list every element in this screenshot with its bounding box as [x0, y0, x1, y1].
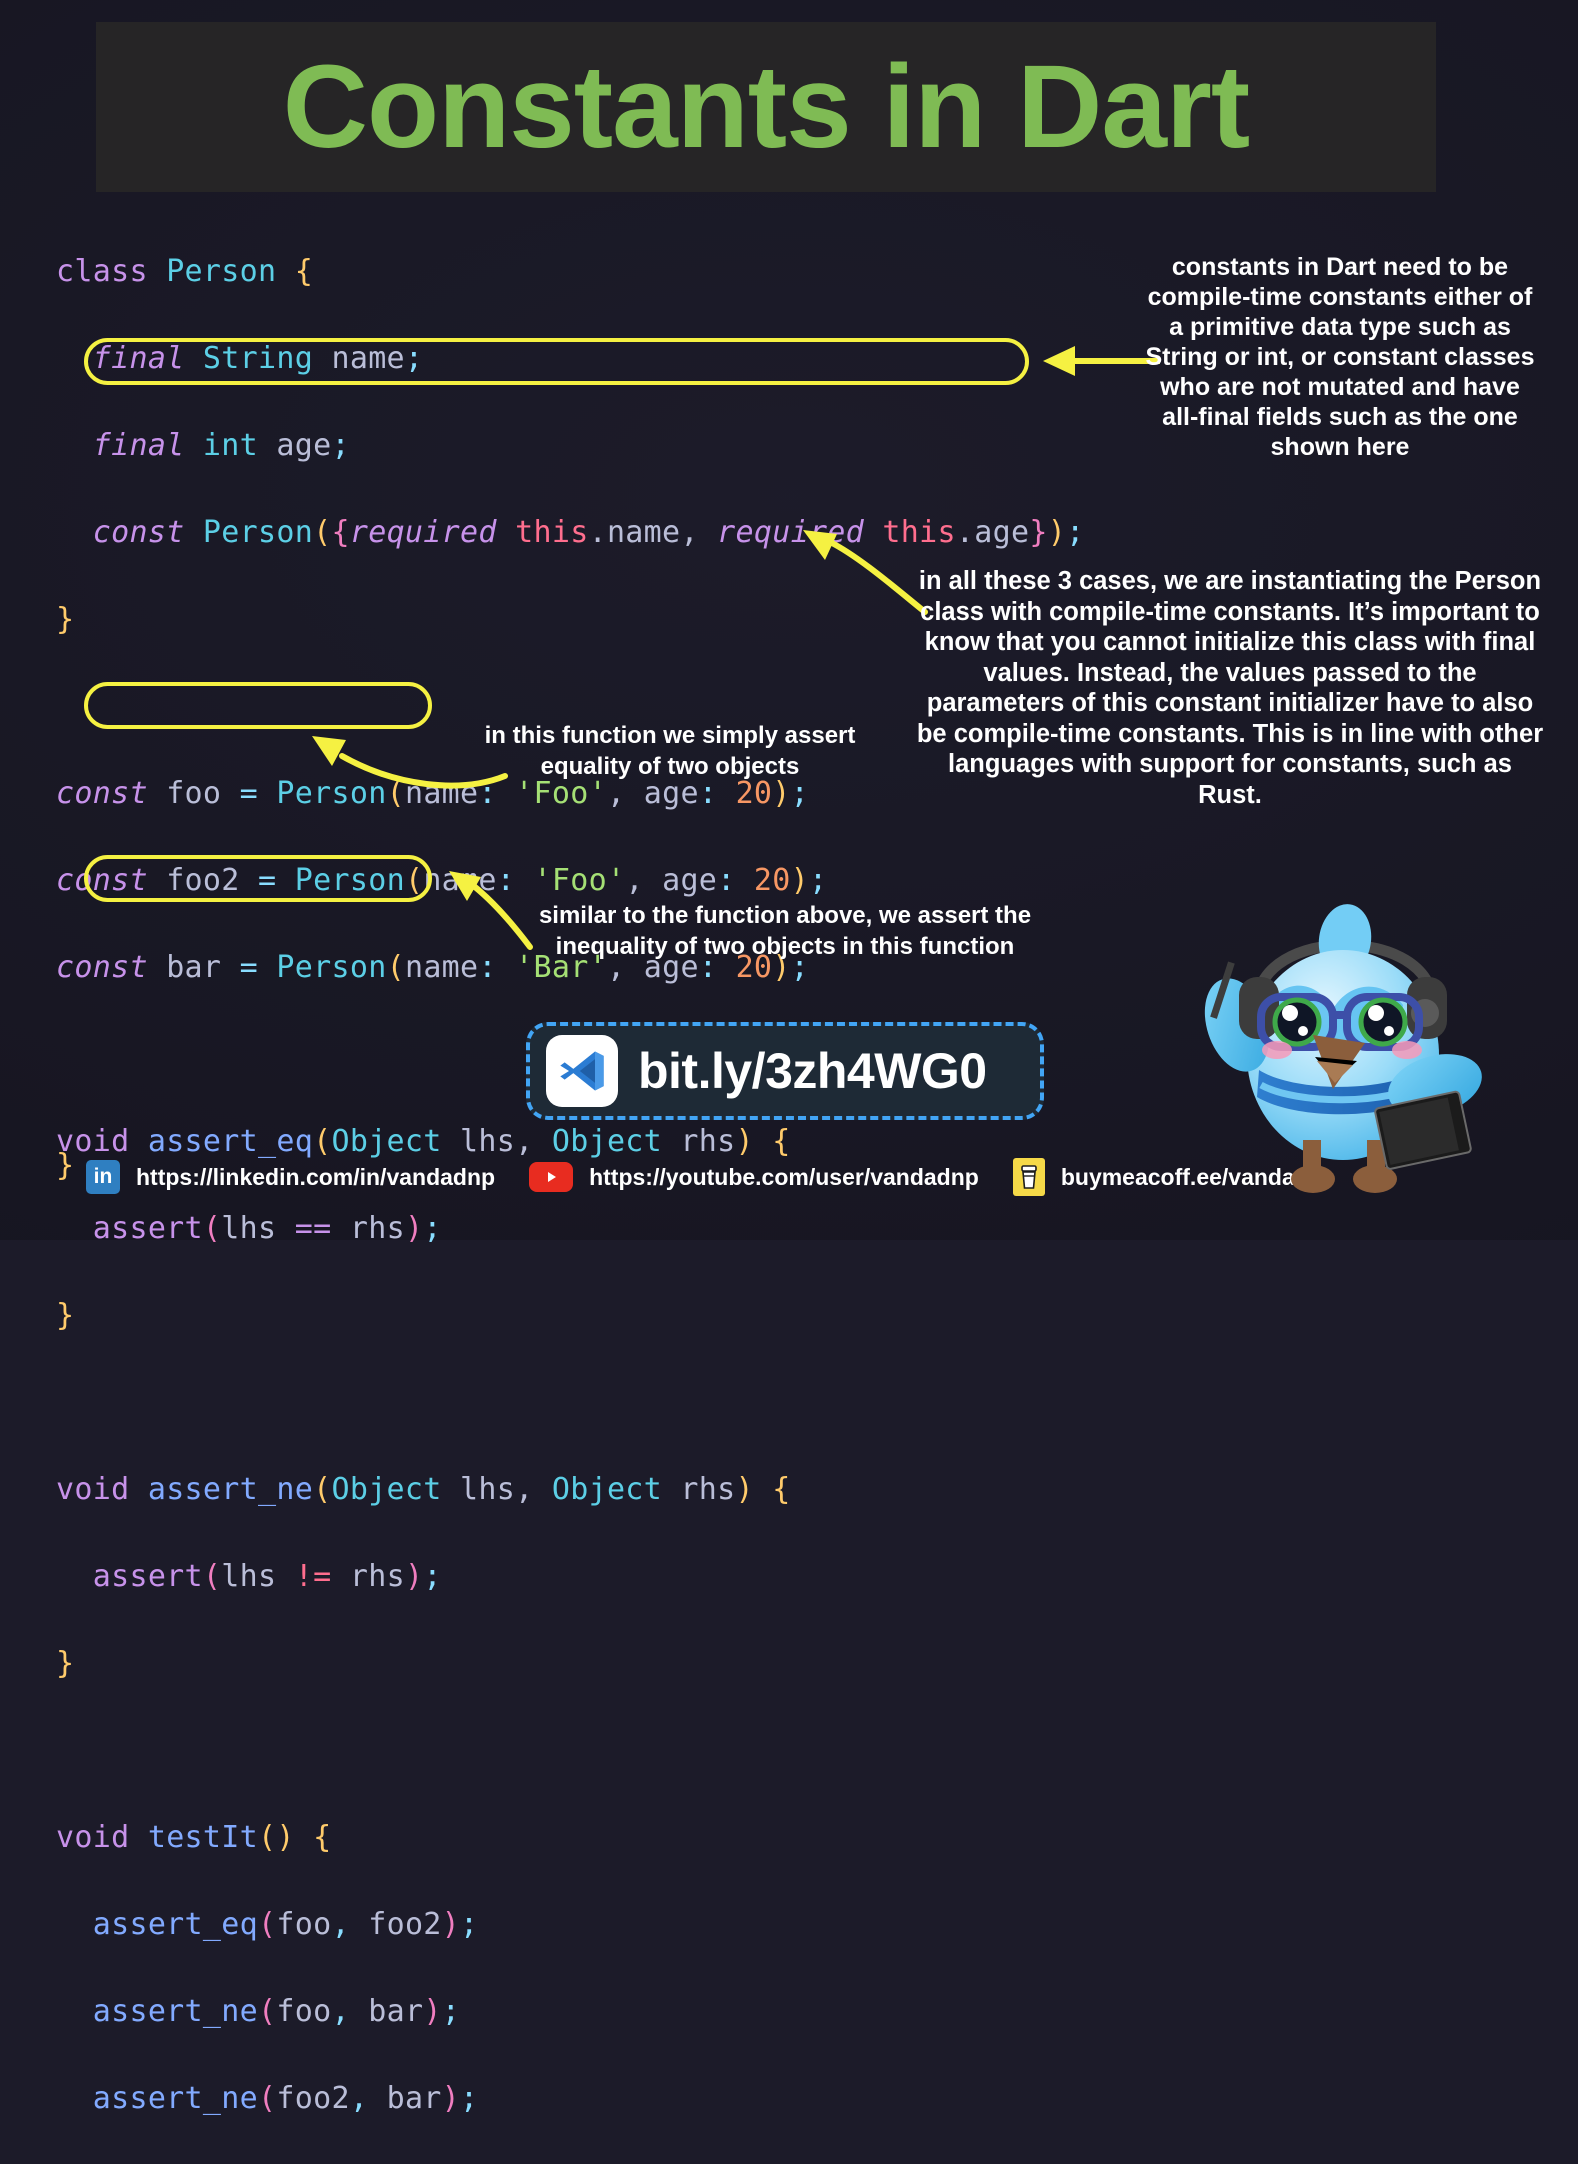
bitly-url: bit.ly/3zh4WG0 [638, 1042, 987, 1100]
linkedin-icon: in [86, 1160, 120, 1194]
footer-item-youtube[interactable]: https://youtube.com/user/vandadnp [529, 1162, 979, 1192]
code-line: void assert_ne(Object lhs, Object rhs) { [56, 1468, 1084, 1512]
code-line: void testIt() { [56, 1816, 1084, 1860]
annotation-assert-eq-explanation: in this function we simply assert equali… [460, 720, 880, 782]
code-line: } [56, 1294, 1084, 1338]
youtube-icon [529, 1162, 573, 1192]
code-line: assert(lhs != rhs); [56, 1555, 1084, 1599]
code-line: const foo2 = Person(name: 'Foo', age: 20… [56, 859, 1084, 903]
linkedin-url: https://linkedin.com/in/vandadnp [136, 1164, 495, 1191]
code-line: final String name; [56, 337, 1084, 381]
title-banner: Constants in Dart [96, 22, 1436, 192]
code-line-blank [56, 1381, 1084, 1425]
vscode-icon [546, 1035, 618, 1107]
bitly-badge[interactable]: bit.ly/3zh4WG0 [526, 1022, 1044, 1120]
page-title: Constants in Dart [283, 48, 1249, 166]
code-line: assert(lhs == rhs); [56, 1207, 1084, 1251]
blue-bird-mascot [1185, 885, 1505, 1225]
youtube-url: https://youtube.com/user/vandadnp [589, 1164, 979, 1191]
code-line: assert_ne(foo2, bar); [56, 2077, 1084, 2121]
footer-links: in https://linkedin.com/in/vandadnp http… [86, 1157, 1343, 1197]
code-line: class Person { [56, 250, 1084, 294]
code-line: assert_ne(foo, bar); [56, 1990, 1084, 2034]
closing-brace: } [56, 1148, 74, 1183]
code-line: const Person({required this.name, requir… [56, 511, 1084, 555]
code-line: assert_eq(foo, foo2); [56, 1903, 1084, 1947]
code-line-blank [56, 1729, 1084, 1773]
code-line: final int age; [56, 424, 1084, 468]
buymeacoffee-icon [1013, 1158, 1045, 1196]
annotation-instances-explanation: in all these 3 cases, we are instantiati… [915, 566, 1545, 810]
annotation-constants-explanation: constants in Dart need to be compile-tim… [1140, 252, 1540, 462]
code-line: } [56, 1642, 1084, 1686]
footer-item-linkedin[interactable]: in https://linkedin.com/in/vandadnp [86, 1160, 495, 1194]
annotation-assert-ne-explanation: similar to the function above, we assert… [520, 900, 1050, 962]
